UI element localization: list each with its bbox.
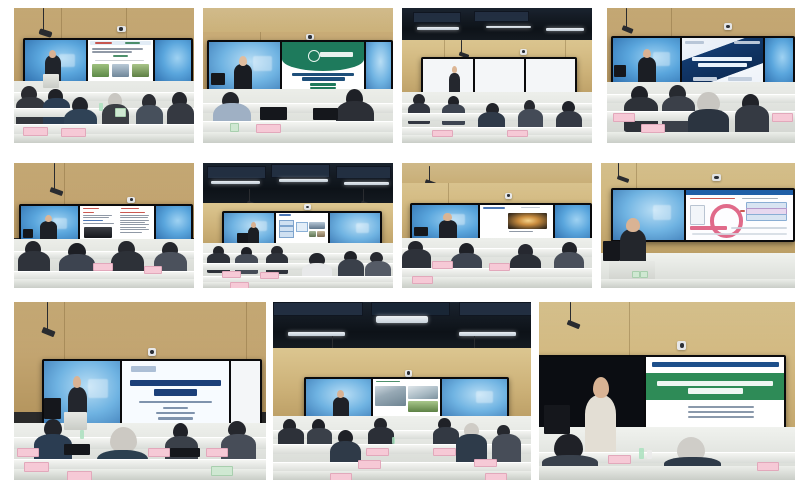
title-slide [122, 361, 228, 425]
presenter-head [443, 213, 452, 220]
screen-center [480, 205, 553, 240]
title-slide [646, 357, 784, 428]
screen-right [155, 40, 191, 83]
screen-left [21, 206, 77, 241]
display-wall [421, 57, 577, 96]
display-wall [207, 40, 393, 93]
camera-icon [127, 197, 135, 203]
screen-left [613, 38, 680, 84]
display-wall [410, 203, 592, 242]
camera-icon [405, 370, 413, 377]
photo-r1c3 [402, 8, 592, 143]
screen-right [231, 361, 261, 425]
screen-center [475, 59, 524, 94]
screen-right [555, 205, 590, 240]
presenter-body [585, 395, 616, 459]
university-logo-icon [131, 366, 157, 372]
name-card [366, 448, 389, 456]
screen-right [366, 42, 391, 91]
camera-icon [505, 193, 513, 199]
camera-icon [520, 49, 528, 55]
screen-center [80, 206, 154, 241]
camera-icon [306, 34, 315, 41]
slide-photo [508, 213, 548, 229]
camera-icon [148, 348, 157, 356]
display-wall [611, 36, 795, 86]
name-card [256, 124, 281, 133]
photo-r2c3 [402, 163, 592, 288]
screen-center [373, 379, 440, 418]
screen-right [330, 213, 380, 246]
photo-r3c1 [14, 302, 266, 480]
screen-center [276, 213, 328, 246]
presenter-head [251, 222, 257, 228]
camera-icon [304, 204, 312, 210]
presenter-head [45, 215, 52, 222]
photo-r1c4 [607, 8, 795, 143]
title-slide [282, 42, 364, 91]
title-slide [682, 38, 763, 84]
presenter-body [449, 73, 460, 94]
display-wall [222, 211, 382, 248]
name-card [432, 130, 453, 137]
presenter-head [626, 218, 640, 232]
presenter-head [337, 390, 344, 398]
slide-terrain-image [375, 386, 406, 406]
display-wall [304, 377, 509, 420]
screen-right [765, 38, 793, 84]
screen-right [442, 379, 507, 418]
screen-left [306, 379, 371, 418]
presenter-head [73, 376, 81, 388]
screen-right [156, 206, 191, 241]
screen-center [282, 42, 364, 91]
name-card [222, 271, 241, 278]
presenter-head [49, 50, 56, 58]
presenter-body [638, 57, 655, 85]
name-card [608, 455, 630, 464]
presenter-body [40, 221, 57, 241]
presenter-head [239, 56, 248, 66]
presenter-body [439, 220, 456, 240]
presenter-body [333, 397, 349, 418]
photo-r2c1 [14, 163, 194, 288]
screen-center [646, 357, 784, 428]
presenter-body [234, 64, 251, 91]
name-card [432, 261, 453, 269]
screen-center [686, 190, 793, 240]
presenter-head [593, 377, 610, 398]
cycle-diagram-slide [686, 190, 793, 240]
ceiling-mic-icon [43, 8, 44, 31]
screen-left [224, 213, 274, 246]
screen-left [209, 42, 280, 91]
screen-center [88, 40, 153, 83]
camera-icon [677, 341, 686, 350]
camera-icon [117, 26, 126, 33]
name-card [93, 263, 113, 271]
display-wall [539, 355, 786, 430]
photo-r3c2 [273, 302, 531, 480]
photo-r1c2 [203, 8, 393, 143]
name-card [23, 127, 48, 136]
screen-center [122, 361, 228, 425]
photo-r2c2 [203, 163, 393, 288]
photo-r1c1 [14, 8, 194, 143]
presenter-head [643, 49, 651, 58]
camera-icon [724, 23, 732, 30]
camera-icon [712, 174, 722, 181]
photo-r2c4 [601, 163, 795, 288]
display-wall [19, 204, 192, 243]
photo-collage [0, 0, 807, 486]
name-card [613, 113, 636, 122]
screen-right [526, 59, 575, 94]
screen-left [423, 59, 473, 94]
screen-center [682, 38, 763, 84]
photo-r3c3 [539, 302, 795, 480]
name-card [17, 448, 39, 457]
screen-left [412, 205, 478, 240]
